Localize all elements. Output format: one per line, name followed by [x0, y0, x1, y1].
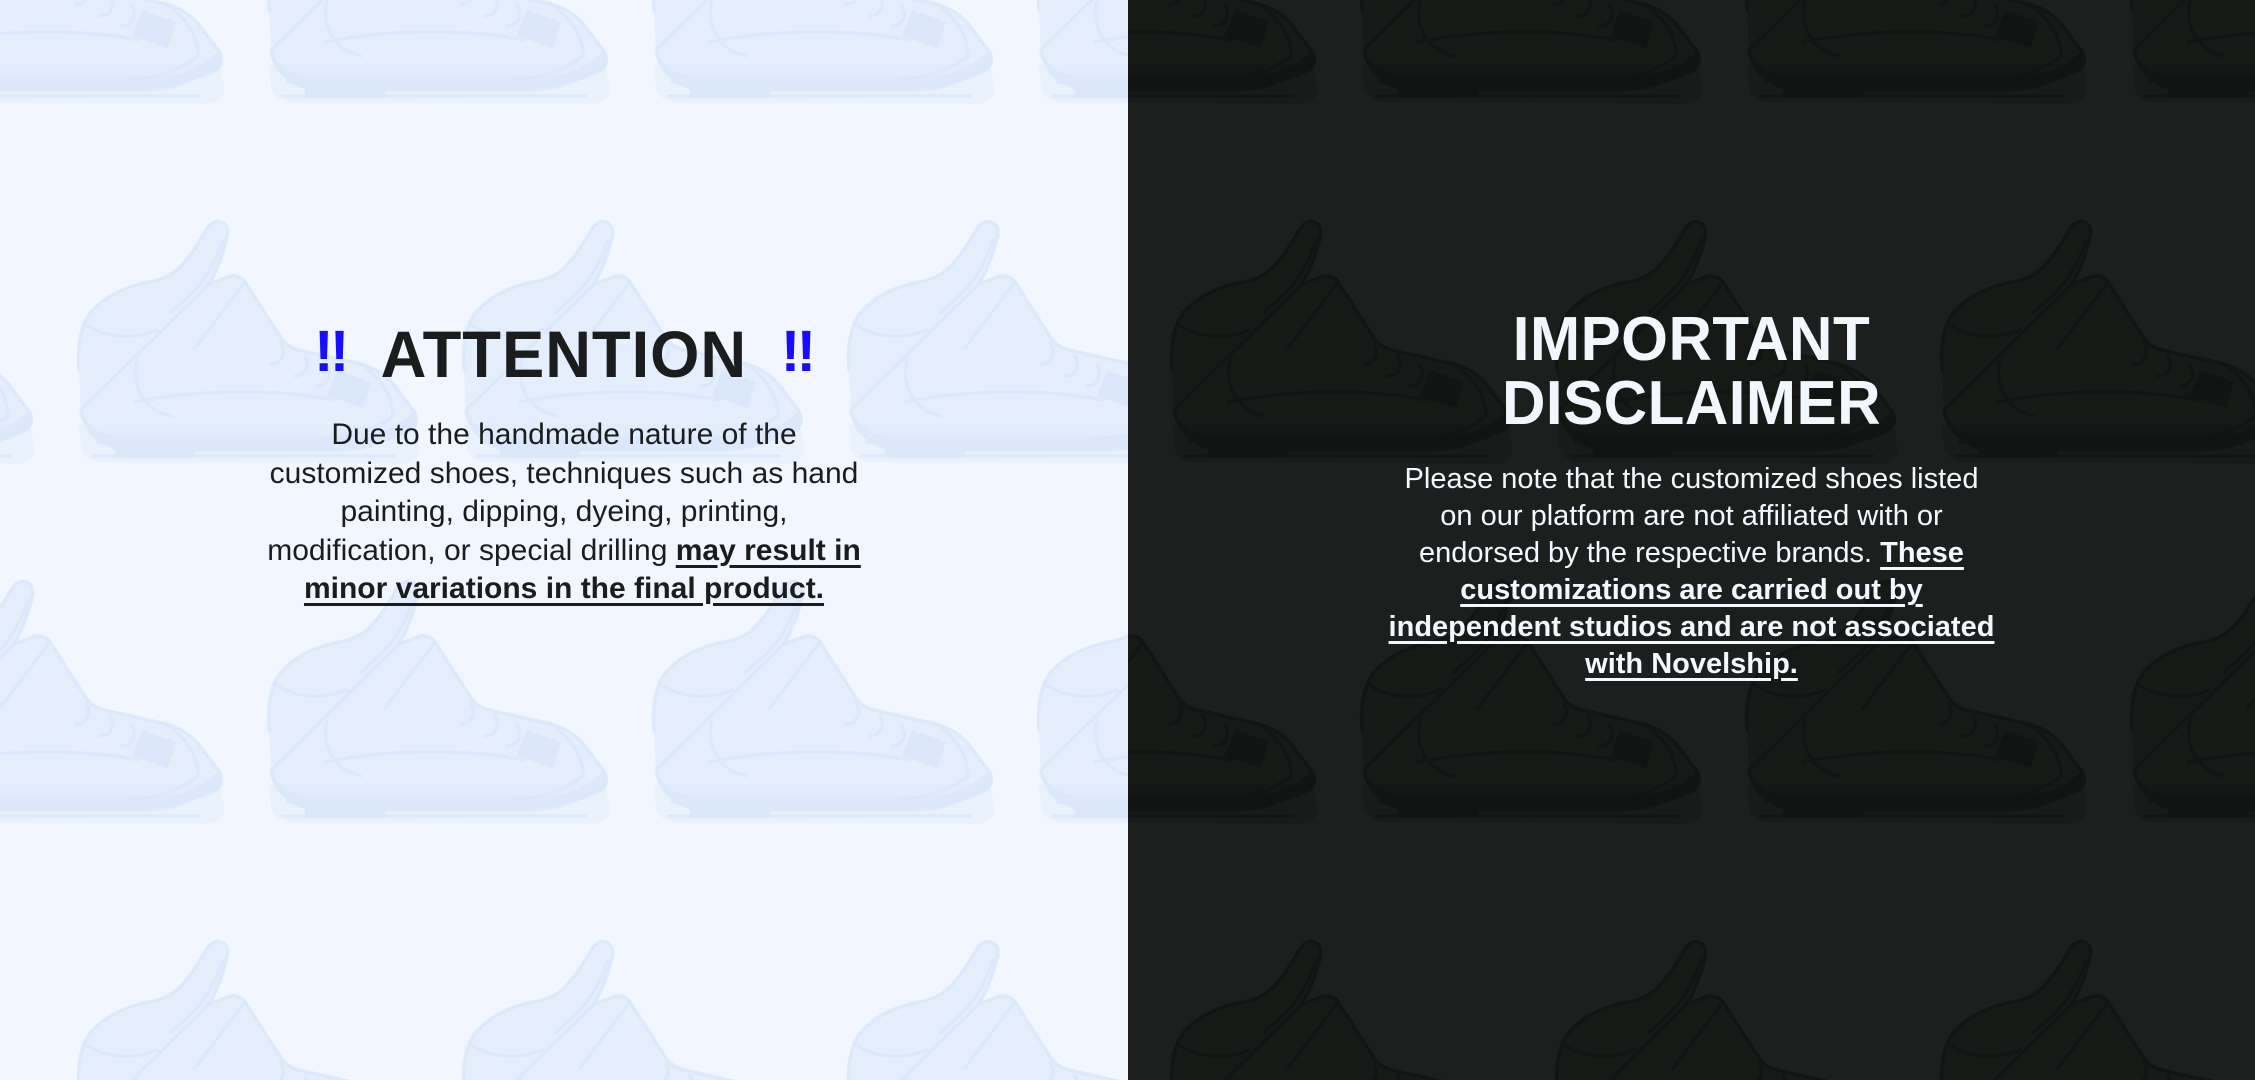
attention-content: ‼ ATTENTION ‼ Due to the handmade nature…	[0, 322, 1128, 759]
disclaimer-panel: IMPORTANT DISCLAIMER Please note that th…	[1128, 0, 2255, 1080]
double-exclamation-icon-right: ‼	[781, 324, 814, 381]
attention-heading-text: ATTENTION	[381, 322, 747, 387]
disclaimer-body: Please note that the customized shoes li…	[1387, 461, 1997, 684]
double-exclamation-icon-left: ‼	[314, 324, 347, 381]
attention-body: Due to the handmade nature of the custom…	[259, 416, 869, 608]
disclaimer-heading: IMPORTANT DISCLAIMER	[1128, 308, 2255, 434]
disclaimer-heading-line2: DISCLAIMER	[1145, 372, 2238, 435]
split-banner: ‼ ATTENTION ‼ Due to the handmade nature…	[0, 0, 2255, 1080]
attention-heading: ‼ ATTENTION ‼	[0, 322, 1128, 387]
disclaimer-content: IMPORTANT DISCLAIMER Please note that th…	[1128, 308, 2255, 771]
disclaimer-heading-line1: IMPORTANT	[1145, 308, 2238, 371]
attention-panel: ‼ ATTENTION ‼ Due to the handmade nature…	[0, 0, 1128, 1080]
